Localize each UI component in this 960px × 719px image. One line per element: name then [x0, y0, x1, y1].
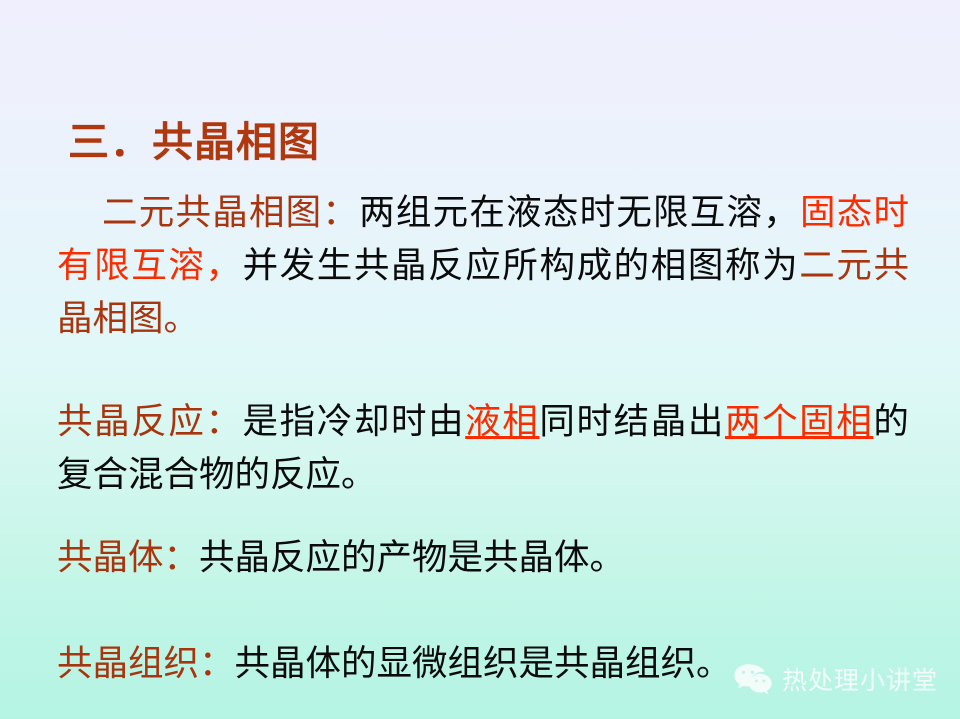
term-eutectic-body: 共晶体 — [57, 537, 164, 578]
body-content: 二元共晶相图：两组元在液态时无限互溶，固态时有限互溶，并发生共晶反应所构成的相图… — [57, 186, 909, 690]
paragraph-definition: 二元共晶相图：两组元在液态时无限互溶，固态时有限互溶，并发生共晶反应所构成的相图… — [57, 186, 909, 345]
p3-text-1: 共晶反应的产物是共晶体。 — [199, 537, 625, 578]
colon-2: ： — [205, 401, 242, 442]
paragraph-eutectic-body: 共晶体：共晶反应的产物是共晶体。 — [57, 531, 909, 584]
slide-title: 三．共晶相图 — [68, 119, 320, 166]
term-binary-eutectic-diagram: 二元共晶相图 — [102, 192, 322, 233]
slide-canvas: 三．共晶相图 二元共晶相图：两组元在液态时无限互溶，固态时有限互溶，并发生共晶反… — [0, 0, 960, 719]
paragraph-eutectic-reaction: 共晶反应：是指冷却时由液相同时结晶出两个固相的复合混合物的反应。 — [57, 395, 909, 501]
p2-text-2: 同时结晶出 — [539, 401, 725, 442]
term-eutectic-structure: 共晶组织 — [57, 643, 199, 684]
colon-3: ： — [164, 537, 200, 578]
colon-4: ： — [199, 643, 235, 684]
colon-1: ： — [322, 192, 359, 233]
paragraph-eutectic-structure: 共晶组织：共晶体的显微组织是共晶组织。 — [57, 637, 909, 690]
p4-text-1: 共晶体的显微组织是共晶组织。 — [235, 643, 732, 684]
p1-text-1: 两组元在液态时无限互溶， — [359, 192, 800, 233]
p2-highlight-liquid-phase: 液相 — [465, 401, 539, 442]
term-eutectic-reaction: 共晶反应 — [57, 401, 205, 442]
p2-highlight-two-solid-phases: 两个固相 — [725, 401, 873, 442]
p1-text-2: 并发生共晶反应所构成的相图称为 — [243, 245, 800, 286]
p2-text-1: 是指冷却时由 — [243, 401, 466, 442]
